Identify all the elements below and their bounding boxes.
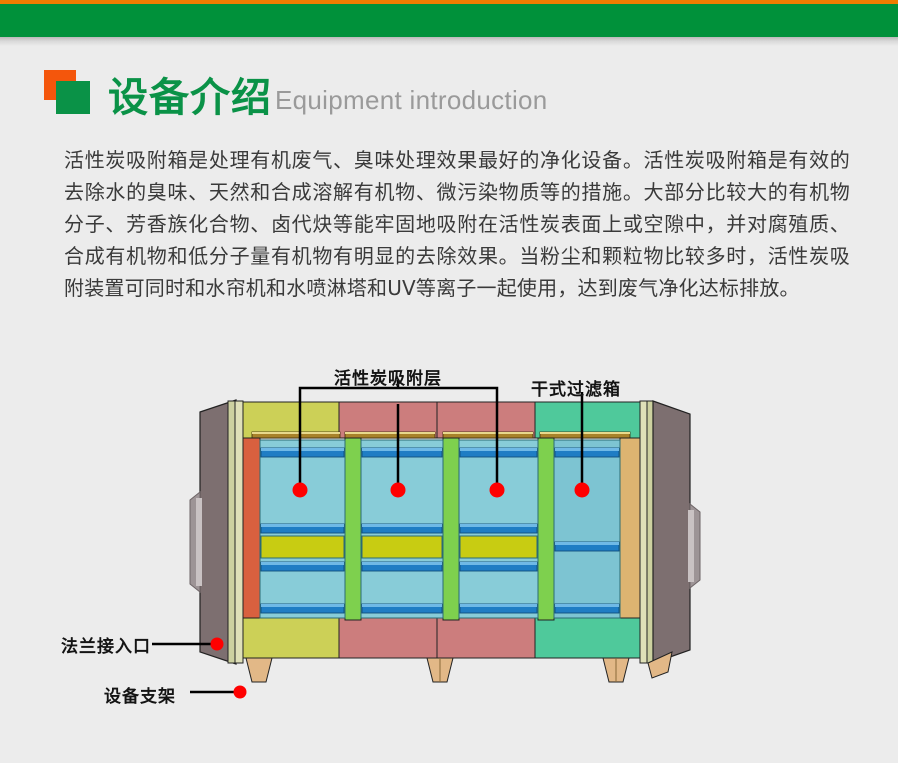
- callout-label-dry-filter-box: 干式过滤箱: [531, 375, 621, 400]
- page-title-cn: 设备介绍: [108, 76, 272, 120]
- right-inner-jamb: [620, 438, 640, 618]
- left-inner-jamb: [243, 438, 260, 618]
- intro-paragraph: 活性炭吸附箱是处理有机废气、臭味处理效果最好的净化设备。活性炭吸附箱是有效的去除…: [64, 144, 850, 304]
- equipment-diagram-svg: [0, 352, 898, 732]
- callout-marker-equipment-stand: [234, 686, 247, 699]
- right-end-plate: [640, 401, 700, 663]
- equipment-diagram: [0, 352, 898, 732]
- carbon-module-3: [459, 440, 538, 618]
- section-heading: 设备介绍 Equipment introduction: [44, 70, 548, 120]
- flange-inlet-plates: [228, 401, 243, 663]
- page-root: 设备介绍 Equipment introduction 活性炭吸附箱是处理有机废…: [0, 0, 898, 763]
- callout-marker-flange-inlet: [211, 638, 224, 651]
- two-overlapping-squares-icon: [44, 70, 98, 116]
- callout-label-equipment-stand: 设备支架: [104, 682, 176, 707]
- carbon-module-2: [361, 440, 443, 618]
- callout-marker-dry-filter-box: [575, 483, 590, 498]
- banner-shadow: [0, 37, 898, 46]
- carbon-module-1: [260, 440, 345, 618]
- dry-filter-module: [554, 440, 620, 618]
- bottom-frame-band: [243, 618, 640, 658]
- banner-green-bar: [0, 4, 898, 37]
- page-title-en: Equipment introduction: [275, 80, 548, 120]
- logo-green-square: [56, 81, 90, 114]
- callout-label-flange-inlet: 法兰接入口: [61, 632, 151, 657]
- callout-label-carbon-adsorption-layer: 活性炭吸附层: [334, 364, 442, 389]
